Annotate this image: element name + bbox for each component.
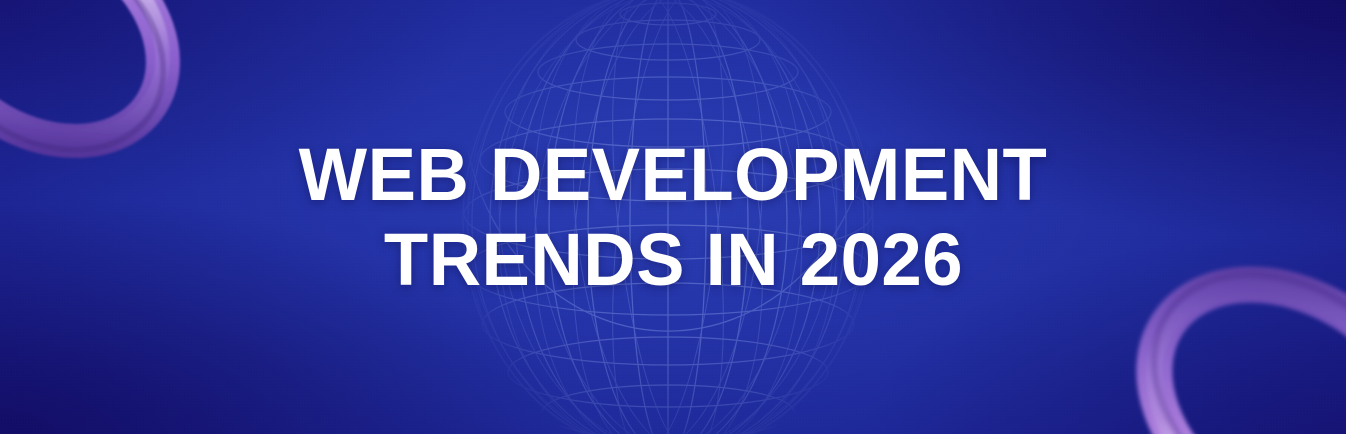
headline-line-2: Trends in 2026 [383,222,962,297]
headline-block: Web Development Trends in 2026 [0,0,1346,434]
banner-root: Web Development Trends in 2026 [0,0,1346,434]
headline-line-1: Web Development [299,137,1048,212]
